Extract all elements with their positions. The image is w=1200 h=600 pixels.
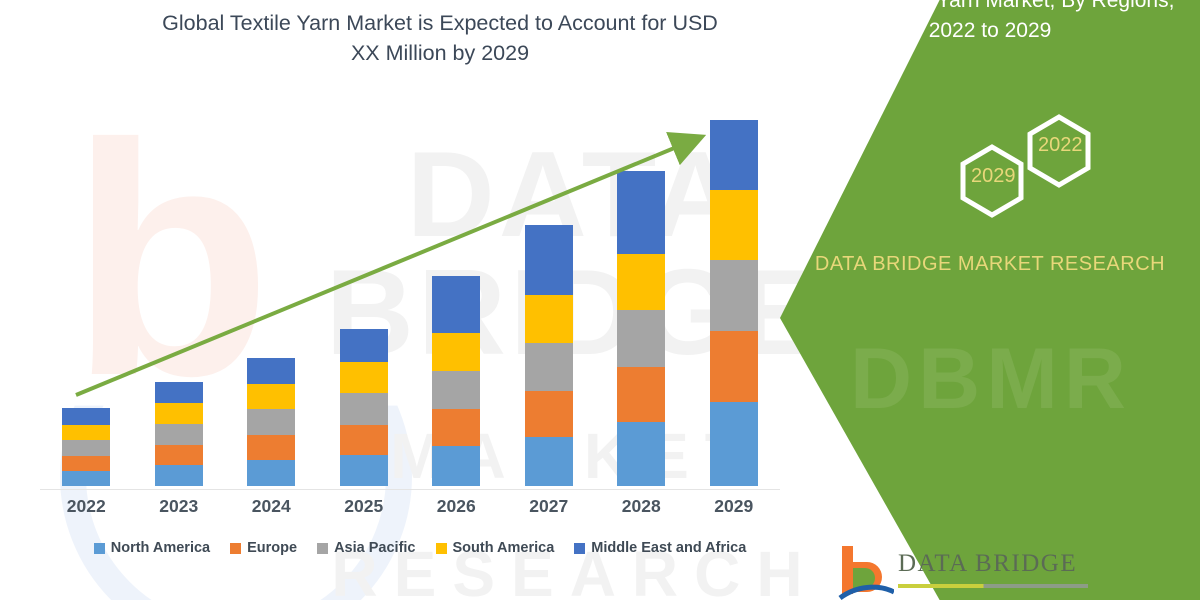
bar-segment[interactable]	[340, 362, 388, 393]
stacked-bar-chart	[40, 120, 780, 490]
bar-segment[interactable]	[340, 455, 388, 486]
bar-segment[interactable]	[155, 445, 203, 465]
bar-segment[interactable]	[525, 295, 573, 343]
page-title: Global Textile Yarn Market is Expected t…	[150, 8, 730, 68]
bar-segment[interactable]	[155, 424, 203, 446]
legend-swatch	[230, 543, 241, 554]
bar-segment[interactable]	[617, 254, 665, 311]
bar-segment[interactable]	[340, 329, 388, 362]
x-axis-label: 2022	[40, 496, 133, 517]
legend-label: South America	[453, 540, 555, 556]
stacked-bar[interactable]	[155, 382, 203, 486]
chart-legend: North AmericaEuropeAsia PacificSouth Ame…	[40, 540, 800, 556]
bar-slot	[688, 120, 781, 486]
bar-segment[interactable]	[62, 456, 110, 471]
bar-segment[interactable]	[525, 343, 573, 391]
bar-segment[interactable]	[247, 435, 295, 460]
bar-segment[interactable]	[617, 422, 665, 486]
stacked-bar[interactable]	[247, 358, 295, 486]
stacked-bar[interactable]	[525, 225, 573, 486]
stacked-bar[interactable]	[340, 329, 388, 486]
bar-segment[interactable]	[525, 391, 573, 437]
legend-item[interactable]: North America	[94, 540, 210, 556]
legend-label: North America	[111, 540, 210, 556]
bar-segment[interactable]	[525, 225, 573, 295]
bar-segment[interactable]	[432, 333, 480, 370]
bar-segment[interactable]	[62, 440, 110, 456]
bar-segment[interactable]	[525, 437, 573, 486]
bar-segment[interactable]	[710, 190, 758, 260]
hex-label-2022: 2022	[1038, 134, 1083, 157]
legend-label: Asia Pacific	[334, 540, 415, 556]
logo-text: DATA BRIDGE	[898, 550, 1077, 578]
x-axis-labels: 20222023202420252026202720282029	[40, 496, 780, 517]
x-axis-label: 2023	[133, 496, 226, 517]
bar-segment[interactable]	[247, 384, 295, 409]
x-axis-label: 2024	[225, 496, 318, 517]
bar-segment[interactable]	[432, 276, 480, 334]
bar-segment[interactable]	[247, 358, 295, 384]
legend-item[interactable]: South America	[436, 540, 555, 556]
bar-segment[interactable]	[247, 409, 295, 435]
legend-swatch	[94, 543, 105, 554]
bar-segment[interactable]	[247, 460, 295, 486]
legend-swatch	[574, 543, 585, 554]
x-axis-label: 2028	[595, 496, 688, 517]
data-bridge-logo: DATA BRIDGE	[838, 540, 1138, 600]
infographic-canvas: b DATA BRIDGE MARKET RESEARCH Global Tex…	[0, 0, 1200, 600]
hexagon-badges: 2022 2029	[780, 96, 1200, 226]
panel-title: Global Textile Yarn Market, By Regions, …	[780, 0, 1200, 46]
bar-segment[interactable]	[710, 402, 758, 486]
bar-segment[interactable]	[340, 393, 388, 424]
bar-segment[interactable]	[62, 425, 110, 440]
legend-item[interactable]: Europe	[230, 540, 297, 556]
green-side-panel	[780, 0, 1200, 600]
legend-label: Europe	[247, 540, 297, 556]
bar-group	[40, 120, 780, 486]
bar-segment[interactable]	[62, 471, 110, 486]
stacked-bar[interactable]	[432, 276, 480, 486]
hex-label-2029: 2029	[971, 165, 1016, 188]
bar-slot	[595, 120, 688, 486]
x-axis-line	[40, 489, 780, 490]
bar-segment[interactable]	[710, 260, 758, 331]
stacked-bar[interactable]	[710, 120, 758, 486]
legend-swatch	[436, 543, 447, 554]
legend-swatch	[317, 543, 328, 554]
bar-slot	[318, 120, 411, 486]
bar-slot	[410, 120, 503, 486]
legend-item[interactable]: Asia Pacific	[317, 540, 415, 556]
bar-segment[interactable]	[62, 408, 110, 424]
b-logo-icon	[838, 542, 894, 600]
stacked-bar[interactable]	[62, 408, 110, 486]
bar-segment[interactable]	[432, 409, 480, 446]
bar-segment[interactable]	[340, 425, 388, 455]
legend-label: Middle East and Africa	[591, 540, 746, 556]
bar-segment[interactable]	[155, 382, 203, 403]
panel-brand-text: DATA BRIDGE MARKET RESEARCH	[780, 250, 1200, 278]
stacked-bar[interactable]	[617, 171, 665, 486]
bar-segment[interactable]	[155, 465, 203, 486]
x-axis-label: 2025	[318, 496, 411, 517]
x-axis-label: 2026	[410, 496, 503, 517]
bar-slot	[40, 120, 133, 486]
bar-segment[interactable]	[432, 371, 480, 409]
bar-slot	[503, 120, 596, 486]
bar-segment[interactable]	[432, 446, 480, 486]
bar-segment[interactable]	[155, 403, 203, 423]
bar-slot	[133, 120, 226, 486]
bar-segment[interactable]	[710, 120, 758, 190]
bar-segment[interactable]	[617, 171, 665, 253]
bar-segment[interactable]	[617, 367, 665, 422]
bar-slot	[225, 120, 318, 486]
x-axis-label: 2027	[503, 496, 596, 517]
x-axis-label: 2029	[688, 496, 781, 517]
bar-segment[interactable]	[710, 331, 758, 402]
logo-underline	[898, 584, 1088, 588]
bar-segment[interactable]	[617, 310, 665, 367]
legend-item[interactable]: Middle East and Africa	[574, 540, 746, 556]
